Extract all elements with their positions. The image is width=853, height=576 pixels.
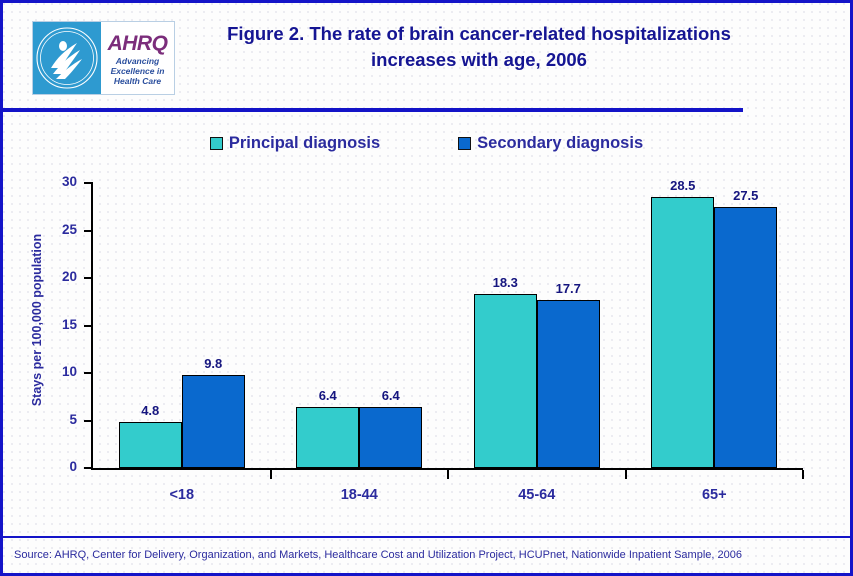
x-tick-mark — [625, 470, 627, 479]
bar-secondary — [182, 375, 245, 468]
y-tick-mark — [84, 230, 91, 232]
x-tick-mark — [447, 470, 449, 479]
y-tick-label: 5 — [43, 414, 77, 426]
bar-secondary — [537, 300, 600, 468]
x-tick-mark — [802, 470, 804, 479]
x-category-label: 65+ — [626, 487, 804, 503]
y-tick-label: 15 — [43, 319, 77, 331]
y-axis-line — [91, 182, 93, 470]
bar-value-label: 6.4 — [351, 388, 430, 403]
figure-page: AHRQ Advancing Excellence in Health Care… — [0, 0, 853, 576]
y-tick-mark — [84, 325, 91, 327]
bar-value-label: 4.8 — [111, 403, 190, 418]
bar-principal — [651, 197, 714, 468]
y-tick-mark — [84, 467, 91, 469]
bar-value-label: 17.7 — [529, 281, 608, 296]
y-axis-title: Stays per 100,000 population — [30, 200, 44, 440]
bar-secondary — [714, 207, 777, 468]
y-tick-label: 0 — [43, 461, 77, 473]
y-tick-label: 25 — [43, 224, 77, 236]
bar-principal — [296, 407, 359, 468]
y-tick-label: 30 — [43, 176, 77, 188]
bar-secondary — [359, 407, 422, 468]
y-tick-label: 10 — [43, 366, 77, 378]
footer-divider — [3, 536, 850, 538]
source-note: Source: AHRQ, Center for Delivery, Organ… — [14, 548, 844, 562]
chart-plot-area: Stays per 100,000 population 05101520253… — [3, 3, 850, 573]
y-tick-mark — [84, 372, 91, 374]
x-category-label: 18-44 — [271, 487, 449, 503]
y-tick-label: 20 — [43, 271, 77, 283]
x-category-label: <18 — [93, 487, 271, 503]
x-category-label: 45-64 — [448, 487, 626, 503]
y-tick-mark — [84, 420, 91, 422]
bar-value-label: 27.5 — [706, 188, 785, 203]
bar-value-label: 9.8 — [174, 356, 253, 371]
y-tick-mark — [84, 277, 91, 279]
bar-principal — [119, 422, 182, 468]
y-tick-mark — [84, 182, 91, 184]
x-tick-mark — [270, 470, 272, 479]
bar-principal — [474, 294, 537, 468]
